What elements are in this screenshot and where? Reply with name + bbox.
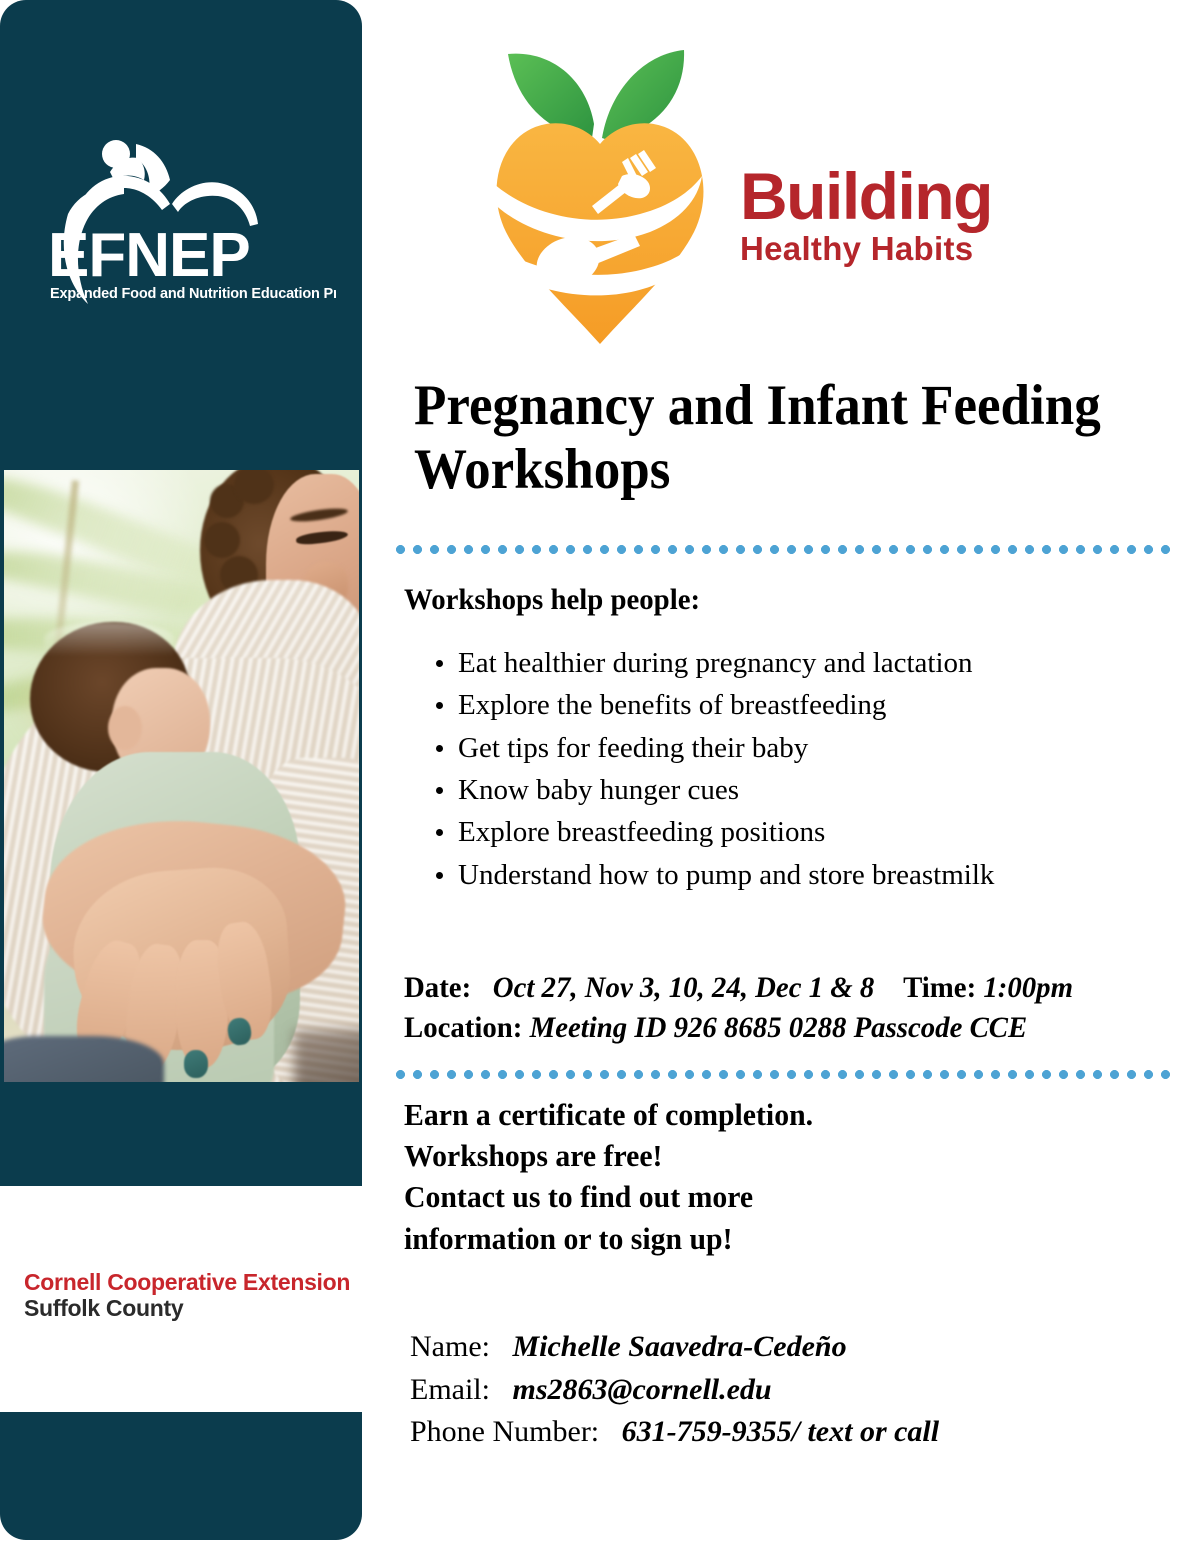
building-healthy-habits-logo: Building Healthy Habits bbox=[472, 16, 1072, 366]
contact-name-row: Name: Michelle Saavedra-Cedeño bbox=[410, 1326, 1110, 1369]
divider-top bbox=[392, 545, 1170, 554]
flyer-page: EFNEP Expanded Food and Nutrition Educat… bbox=[0, 0, 1200, 1553]
heart-apple-icon bbox=[472, 16, 732, 361]
main-content: Building Healthy Habits Pregnancy and In… bbox=[362, 0, 1200, 1553]
svg-text:EFNEP: EFNEP bbox=[48, 221, 250, 290]
contact-block: Name: Michelle Saavedra-Cedeño Email: ms… bbox=[410, 1326, 1110, 1454]
date-time-row: Date: Oct 27, Nov 3, 10, 24, Dec 1 & 8 T… bbox=[404, 968, 1162, 1008]
closing-line: information or to sign up! bbox=[404, 1218, 1057, 1259]
contact-name-label: Name: bbox=[410, 1330, 490, 1363]
contact-email-label: Email: bbox=[410, 1373, 490, 1406]
sidebar-bottom-panel bbox=[0, 1412, 362, 1540]
closing-line: Workshops are free! bbox=[404, 1135, 1057, 1176]
list-item: Explore the benefits of breastfeeding bbox=[430, 684, 1020, 726]
closing-line: Earn a certificate of completion. bbox=[404, 1094, 1057, 1135]
bhh-word-healthy-habits: Healthy Habits bbox=[740, 231, 1070, 267]
lead-heading: Workshops help people: bbox=[404, 583, 700, 617]
cornell-extension-block: Cornell Cooperative Extension Suffolk Co… bbox=[24, 1270, 364, 1322]
contact-phone-label: Phone Number: bbox=[410, 1415, 599, 1448]
list-item: Eat healthier during pregnancy and lacta… bbox=[430, 642, 1020, 684]
cornell-extension-title: Cornell Cooperative Extension bbox=[24, 1270, 364, 1296]
list-item: Explore breastfeeding positions bbox=[430, 811, 1020, 853]
sidebar: EFNEP Expanded Food and Nutrition Educat… bbox=[0, 0, 362, 1553]
closing-line: Contact us to find out more bbox=[404, 1176, 1057, 1217]
contact-email-value[interactable]: ms2863@cornell.edu bbox=[512, 1373, 771, 1406]
contact-phone-value[interactable]: 631-759-9355/ text or call bbox=[622, 1415, 939, 1448]
time-value: 1:00pm bbox=[983, 971, 1073, 1004]
bhh-wordmark: Building Healthy Habits bbox=[740, 164, 1070, 267]
cornell-extension-county: Suffolk County bbox=[24, 1296, 364, 1322]
list-item: Understand how to pump and store breastm… bbox=[430, 854, 1020, 896]
page-title: Pregnancy and Infant Feeding Workshops bbox=[414, 374, 1102, 502]
contact-phone-row: Phone Number: 631-759-9355/ text or call bbox=[410, 1411, 1110, 1454]
date-value: Oct 27, Nov 3, 10, 24, Dec 1 & 8 bbox=[493, 971, 875, 1004]
location-value: Meeting ID 926 8685 0288 Passcode CCE bbox=[530, 1011, 1028, 1044]
svg-text:Expanded Food and Nutrition Ed: Expanded Food and Nutrition Education Pr… bbox=[50, 286, 336, 302]
breastfeeding-photo bbox=[4, 470, 359, 1082]
bhh-word-building: Building bbox=[740, 164, 1070, 229]
benefits-list: Eat healthier during pregnancy and lacta… bbox=[430, 642, 1020, 896]
date-label: Date: bbox=[404, 971, 471, 1004]
location-row: Location: Meeting ID 926 8685 0288 Passc… bbox=[404, 1008, 1162, 1048]
contact-name-value: Michelle Saavedra-Cedeño bbox=[512, 1330, 846, 1363]
list-item: Know baby hunger cues bbox=[430, 769, 1020, 811]
efnep-logo: EFNEP Expanded Food and Nutrition Educat… bbox=[36, 118, 336, 308]
contact-email-row: Email: ms2863@cornell.edu bbox=[410, 1369, 1110, 1412]
divider-bottom bbox=[392, 1070, 1170, 1079]
location-label: Location: bbox=[404, 1011, 522, 1044]
list-item: Get tips for feeding their baby bbox=[430, 727, 1020, 769]
closing-block: Earn a certificate of completion. Worksh… bbox=[404, 1094, 1057, 1259]
time-label: Time: bbox=[903, 971, 976, 1004]
event-details: Date: Oct 27, Nov 3, 10, 24, Dec 1 & 8 T… bbox=[404, 968, 1194, 1048]
